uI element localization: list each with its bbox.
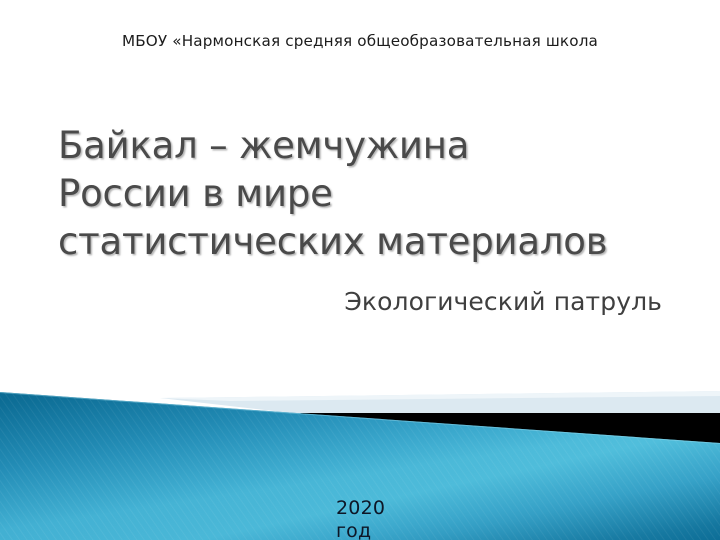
black-wedge [300, 413, 720, 443]
title-line-2: России в мире [58, 170, 678, 218]
title-line-1: Байкал – жемчужина [58, 122, 678, 170]
presentation-slide: МБОУ «Нармонская средняя общеобразовател… [0, 0, 720, 540]
light-blue-band-feather [160, 391, 720, 401]
page-title: Байкал – жемчужина России в мире статист… [58, 122, 678, 266]
year-value: 2020 [336, 497, 385, 520]
angled-ribbon-decoration [0, 0, 720, 540]
light-blue-band [160, 391, 720, 414]
organization-header: МБОУ «Нармонская средняя общеобразовател… [0, 31, 720, 51]
subtitle: Экологический патруль [344, 286, 662, 318]
title-line-3: статистических материалов [58, 218, 678, 266]
teal-top-edge-highlight [0, 393, 720, 444]
year-word: год [336, 520, 385, 540]
year-footer: 2020 год [336, 497, 385, 540]
